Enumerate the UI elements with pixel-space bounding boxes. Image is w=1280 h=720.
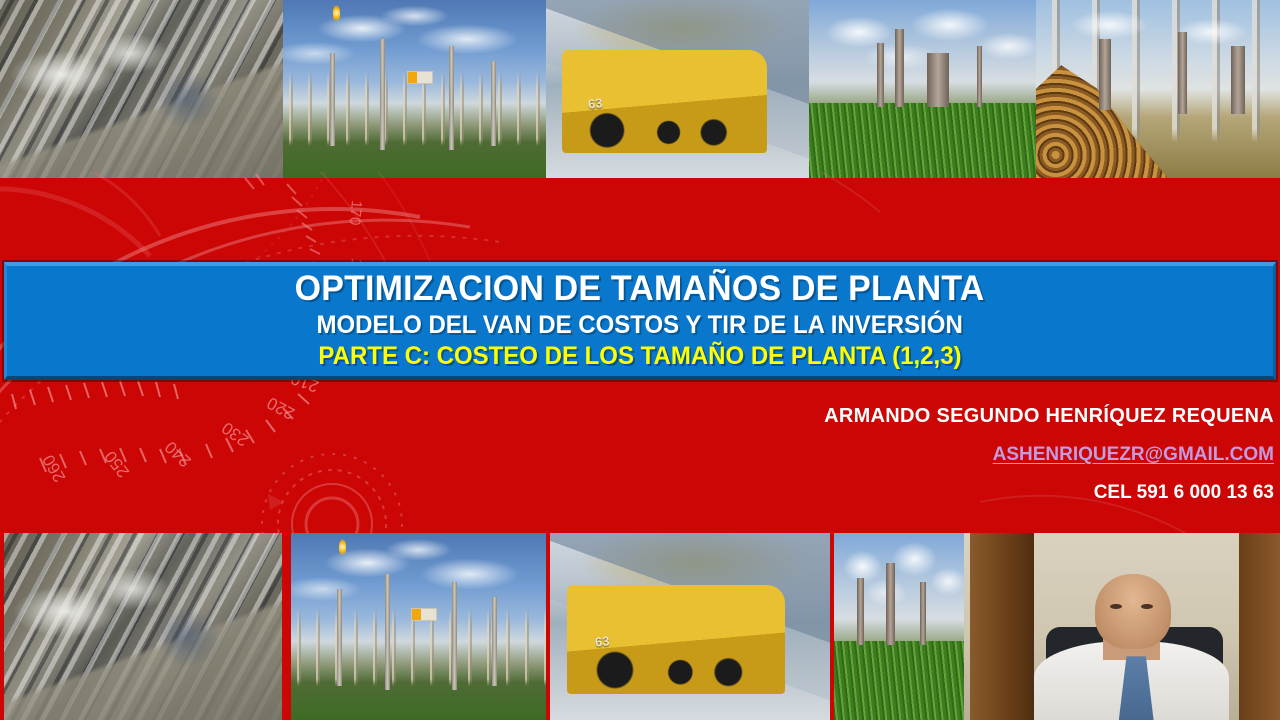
presenter-eye — [1110, 604, 1122, 609]
refinery-photo — [283, 0, 546, 178]
slide-title-part: PARTE C: COSTEO DE LOS TAMAÑO DE PLANTA … — [318, 341, 961, 372]
power-plant-photo — [0, 0, 283, 178]
slide-title-bar: OPTIMIZACION DE TAMAÑOS DE PLANTA MODELO… — [4, 262, 1276, 380]
slide-title-subtitle: MODELO DEL VAN DE COSTOS Y TIR DE LA INV… — [317, 310, 963, 341]
image-oil-refinery-bottom — [291, 533, 546, 720]
mill-tank — [1231, 46, 1245, 114]
image-haul-truck-bottom: 63 — [550, 533, 830, 720]
decor-tick-label: 240 — [161, 437, 195, 470]
refinery-stack — [385, 574, 390, 690]
plant-tower — [857, 578, 864, 645]
plant-structure — [927, 53, 949, 106]
refinery-photo — [291, 533, 546, 720]
image-cane-field-top — [809, 0, 1036, 178]
decor-tick-label: 230 — [218, 418, 252, 450]
truck-number-label: 63 — [594, 633, 610, 649]
cane-field-photo — [834, 533, 964, 720]
plant-tower — [895, 29, 904, 107]
plant-tower — [886, 563, 895, 645]
gas-flare-icon — [333, 5, 340, 21]
slide-title-main: OPTIMIZACION DE TAMAÑOS DE PLANTA — [295, 268, 985, 310]
cane-field-photo — [809, 0, 1036, 178]
mill-silo — [1099, 39, 1111, 110]
refinery-watermark-logo — [407, 71, 433, 84]
strip-gap — [282, 533, 291, 720]
refinery-stack — [452, 582, 457, 690]
presenter-head — [1095, 574, 1171, 649]
decor-tick-label: 220 — [264, 393, 298, 423]
presenter-name: ARMANDO SEGUNDO HENRÍQUEZ REQUENA — [824, 405, 1274, 428]
background-door — [1239, 533, 1280, 720]
plant-tower — [920, 582, 926, 646]
haul-truck-photo — [550, 533, 830, 720]
truck-number-label: 63 — [587, 95, 603, 111]
top-image-strip: 63 — [0, 0, 1280, 178]
refinery-stack — [449, 46, 454, 149]
mill-column — [1178, 32, 1187, 114]
image-power-plant-aerial-top — [0, 0, 283, 178]
decor-tick-label: 250 — [101, 447, 133, 481]
image-timber-mill-top — [1036, 0, 1280, 178]
decor-tick-label: 260 — [39, 451, 70, 485]
presentation-slide: 63 — [0, 0, 1280, 720]
refinery-stack — [330, 53, 335, 146]
presenter-eye — [1141, 604, 1153, 609]
background-door — [970, 533, 1033, 720]
plant-tower — [877, 43, 884, 107]
bottom-image-strip: 63 — [0, 533, 1280, 720]
plant-tower — [977, 46, 982, 107]
image-oil-refinery-top — [283, 0, 546, 178]
presenter-phone: CEL 591 6 000 13 63 — [1094, 482, 1274, 504]
refinery-stack — [380, 39, 385, 149]
refinery-stack — [491, 61, 496, 146]
refinery-stack — [337, 589, 342, 686]
presenter-email-link[interactable]: ASHENRIQUEZR@GMAIL.COM — [993, 444, 1274, 466]
refinery-watermark-logo — [411, 608, 437, 621]
presenter-webcam-panel — [964, 533, 1280, 720]
refinery-stack — [492, 597, 497, 687]
image-power-plant-aerial-bottom — [4, 533, 282, 720]
image-haul-truck-top: 63 — [546, 0, 809, 178]
decor-tick-label: 170 — [346, 200, 365, 226]
haul-truck-photo — [546, 0, 809, 178]
image-cane-field-bottom — [834, 533, 964, 720]
presenter-contact-block: ARMANDO SEGUNDO HENRÍQUEZ REQUENA ASHENR… — [634, 405, 1274, 504]
power-plant-photo — [4, 533, 282, 720]
